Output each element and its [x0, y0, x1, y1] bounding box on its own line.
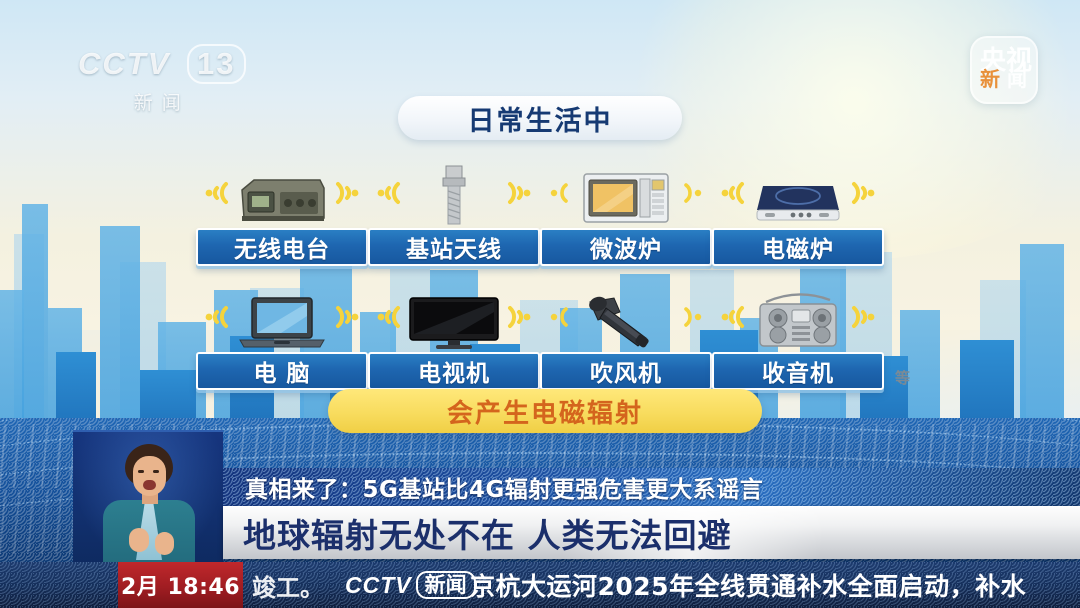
- device-label-text-1: 基站天线: [406, 230, 502, 264]
- anchor-hand-left: [129, 528, 149, 552]
- device-cell-radio-transmitter: 无线电台: [196, 160, 368, 270]
- device-label-3: 电磁炉: [712, 228, 884, 266]
- wave-right-icon: [848, 300, 878, 334]
- wave-left-icon: [202, 176, 232, 210]
- device-label-2: 微波炉: [540, 228, 712, 266]
- wave-left-icon: [718, 300, 748, 334]
- ticker-clock-text: 2月 18:46: [121, 569, 240, 601]
- device-label-1: 基站天线: [368, 228, 540, 266]
- anchor-hand-right: [155, 532, 174, 555]
- wave-right-icon: [332, 300, 362, 334]
- lower-third-topic-text: 真相来了：5G基站比4G辐射更强危害更大系谣言: [245, 470, 763, 504]
- ticker-logo-cctv: CCTV: [345, 572, 412, 599]
- anchor-mouth: [143, 480, 156, 490]
- ticker-clock: 2月 18:46: [118, 562, 243, 608]
- channel-bug-name: CCTV: [78, 46, 170, 81]
- device-label-5: 电视机: [368, 352, 540, 390]
- cell-tower-icon: [433, 162, 475, 226]
- device-cell-cell-tower: 基站天线: [368, 160, 540, 270]
- device-label-4: 电 脑: [196, 352, 368, 390]
- watermark-line2: 新: [980, 63, 1000, 92]
- laptop-icon: [236, 294, 328, 350]
- channel-bug-subtitle: 新闻: [78, 88, 246, 115]
- lower-third-topic-bar: 真相来了：5G基站比4G辐射更强危害更大系谣言: [223, 468, 1080, 506]
- wave-right-icon: [504, 300, 534, 334]
- device-label-0: 无线电台: [196, 228, 368, 266]
- boombox-radio-icon: [754, 288, 842, 350]
- infographic-header-pill: 日常生活中: [398, 96, 682, 140]
- ticker-logo-news: 新闻: [416, 571, 476, 599]
- channel-bug-number: 13: [187, 44, 245, 84]
- wave-left-icon: [202, 300, 232, 334]
- anchor-eye-left: [138, 470, 144, 473]
- microwave-oven-icon: [582, 170, 670, 226]
- wave-right-icon: [332, 176, 362, 210]
- device-cell-induction-cooker: 电磁炉: [712, 160, 884, 270]
- anchor-face: [133, 456, 166, 496]
- infographic-header-text: 日常生活中: [468, 99, 613, 138]
- device-cell-boombox-radio: 收音机 等: [712, 284, 884, 394]
- lower-third-headline-text: 地球辐射无处不在 人类无法回避: [243, 509, 732, 557]
- wave-right-icon: [680, 302, 706, 332]
- ticker-preceding-text: 竣工。: [252, 568, 324, 603]
- watermark-line3: 闻: [1007, 63, 1027, 92]
- wave-left-icon: [374, 300, 404, 334]
- device-label-text-7: 收音机: [762, 354, 834, 388]
- conclusion-pill: 会产生电磁辐射: [328, 389, 762, 433]
- device-label-text-3: 电磁炉: [762, 230, 834, 264]
- ticker-cctv-news-logo: CCTV 新闻: [345, 571, 476, 599]
- device-cell-microwave: 微波炉: [540, 160, 712, 270]
- device-grid: 无线电台: [196, 160, 886, 394]
- induction-cooker-icon: [755, 176, 841, 226]
- device-label-text-6: 吹风机: [590, 354, 662, 388]
- device-label-text-5: 电视机: [418, 354, 490, 388]
- device-label-text-2: 微波炉: [590, 230, 662, 264]
- device-cell-laptop: 电 脑: [196, 284, 368, 394]
- conclusion-pill-text: 会产生电磁辐射: [447, 393, 643, 430]
- device-label-text-4: 电 脑: [253, 354, 310, 388]
- cctv-news-app-watermark: 央视 新 闻: [970, 36, 1038, 104]
- radio-transmitter-icon: [236, 172, 328, 226]
- wave-right-icon: [848, 176, 878, 210]
- news-ticker-bar: 竣工。 CCTV 新闻 京杭大运河2025年全线贯通补水全面启动，补水 2月 1…: [0, 562, 1080, 608]
- wave-right-icon: [680, 178, 706, 208]
- device-row-2: 电 脑: [196, 284, 886, 394]
- broadcast-screen: CCTV 13 新闻 央视 新 闻 日常生活中: [0, 0, 1080, 608]
- cctv13-channel-bug: CCTV 13 新闻: [78, 44, 246, 115]
- television-icon: [406, 294, 502, 350]
- wave-left-icon: [718, 176, 748, 210]
- device-label-6: 吹风机: [540, 352, 712, 390]
- device-label-text-0: 无线电台: [234, 230, 330, 264]
- device-label-7: 收音机: [712, 352, 884, 390]
- news-anchor-video: [73, 430, 223, 566]
- device-cell-television: 电视机: [368, 284, 540, 394]
- ticker-news-text: 京杭大运河2025年全线贯通补水全面启动，补水: [470, 567, 1026, 603]
- device-row-1: 无线电台: [196, 160, 886, 270]
- wave-right-icon: [504, 176, 534, 210]
- device-cell-hair-dryer: 吹风机: [540, 284, 712, 394]
- wave-left-icon: [546, 178, 572, 208]
- lower-third-headline-bar: 地球辐射无处不在 人类无法回避: [223, 506, 1080, 559]
- wave-left-icon: [374, 176, 404, 210]
- hair-dryer-icon: [584, 294, 668, 350]
- anchor-eye-right: [153, 470, 159, 473]
- etc-marker: 等: [895, 367, 910, 388]
- wave-left-icon: [546, 302, 572, 332]
